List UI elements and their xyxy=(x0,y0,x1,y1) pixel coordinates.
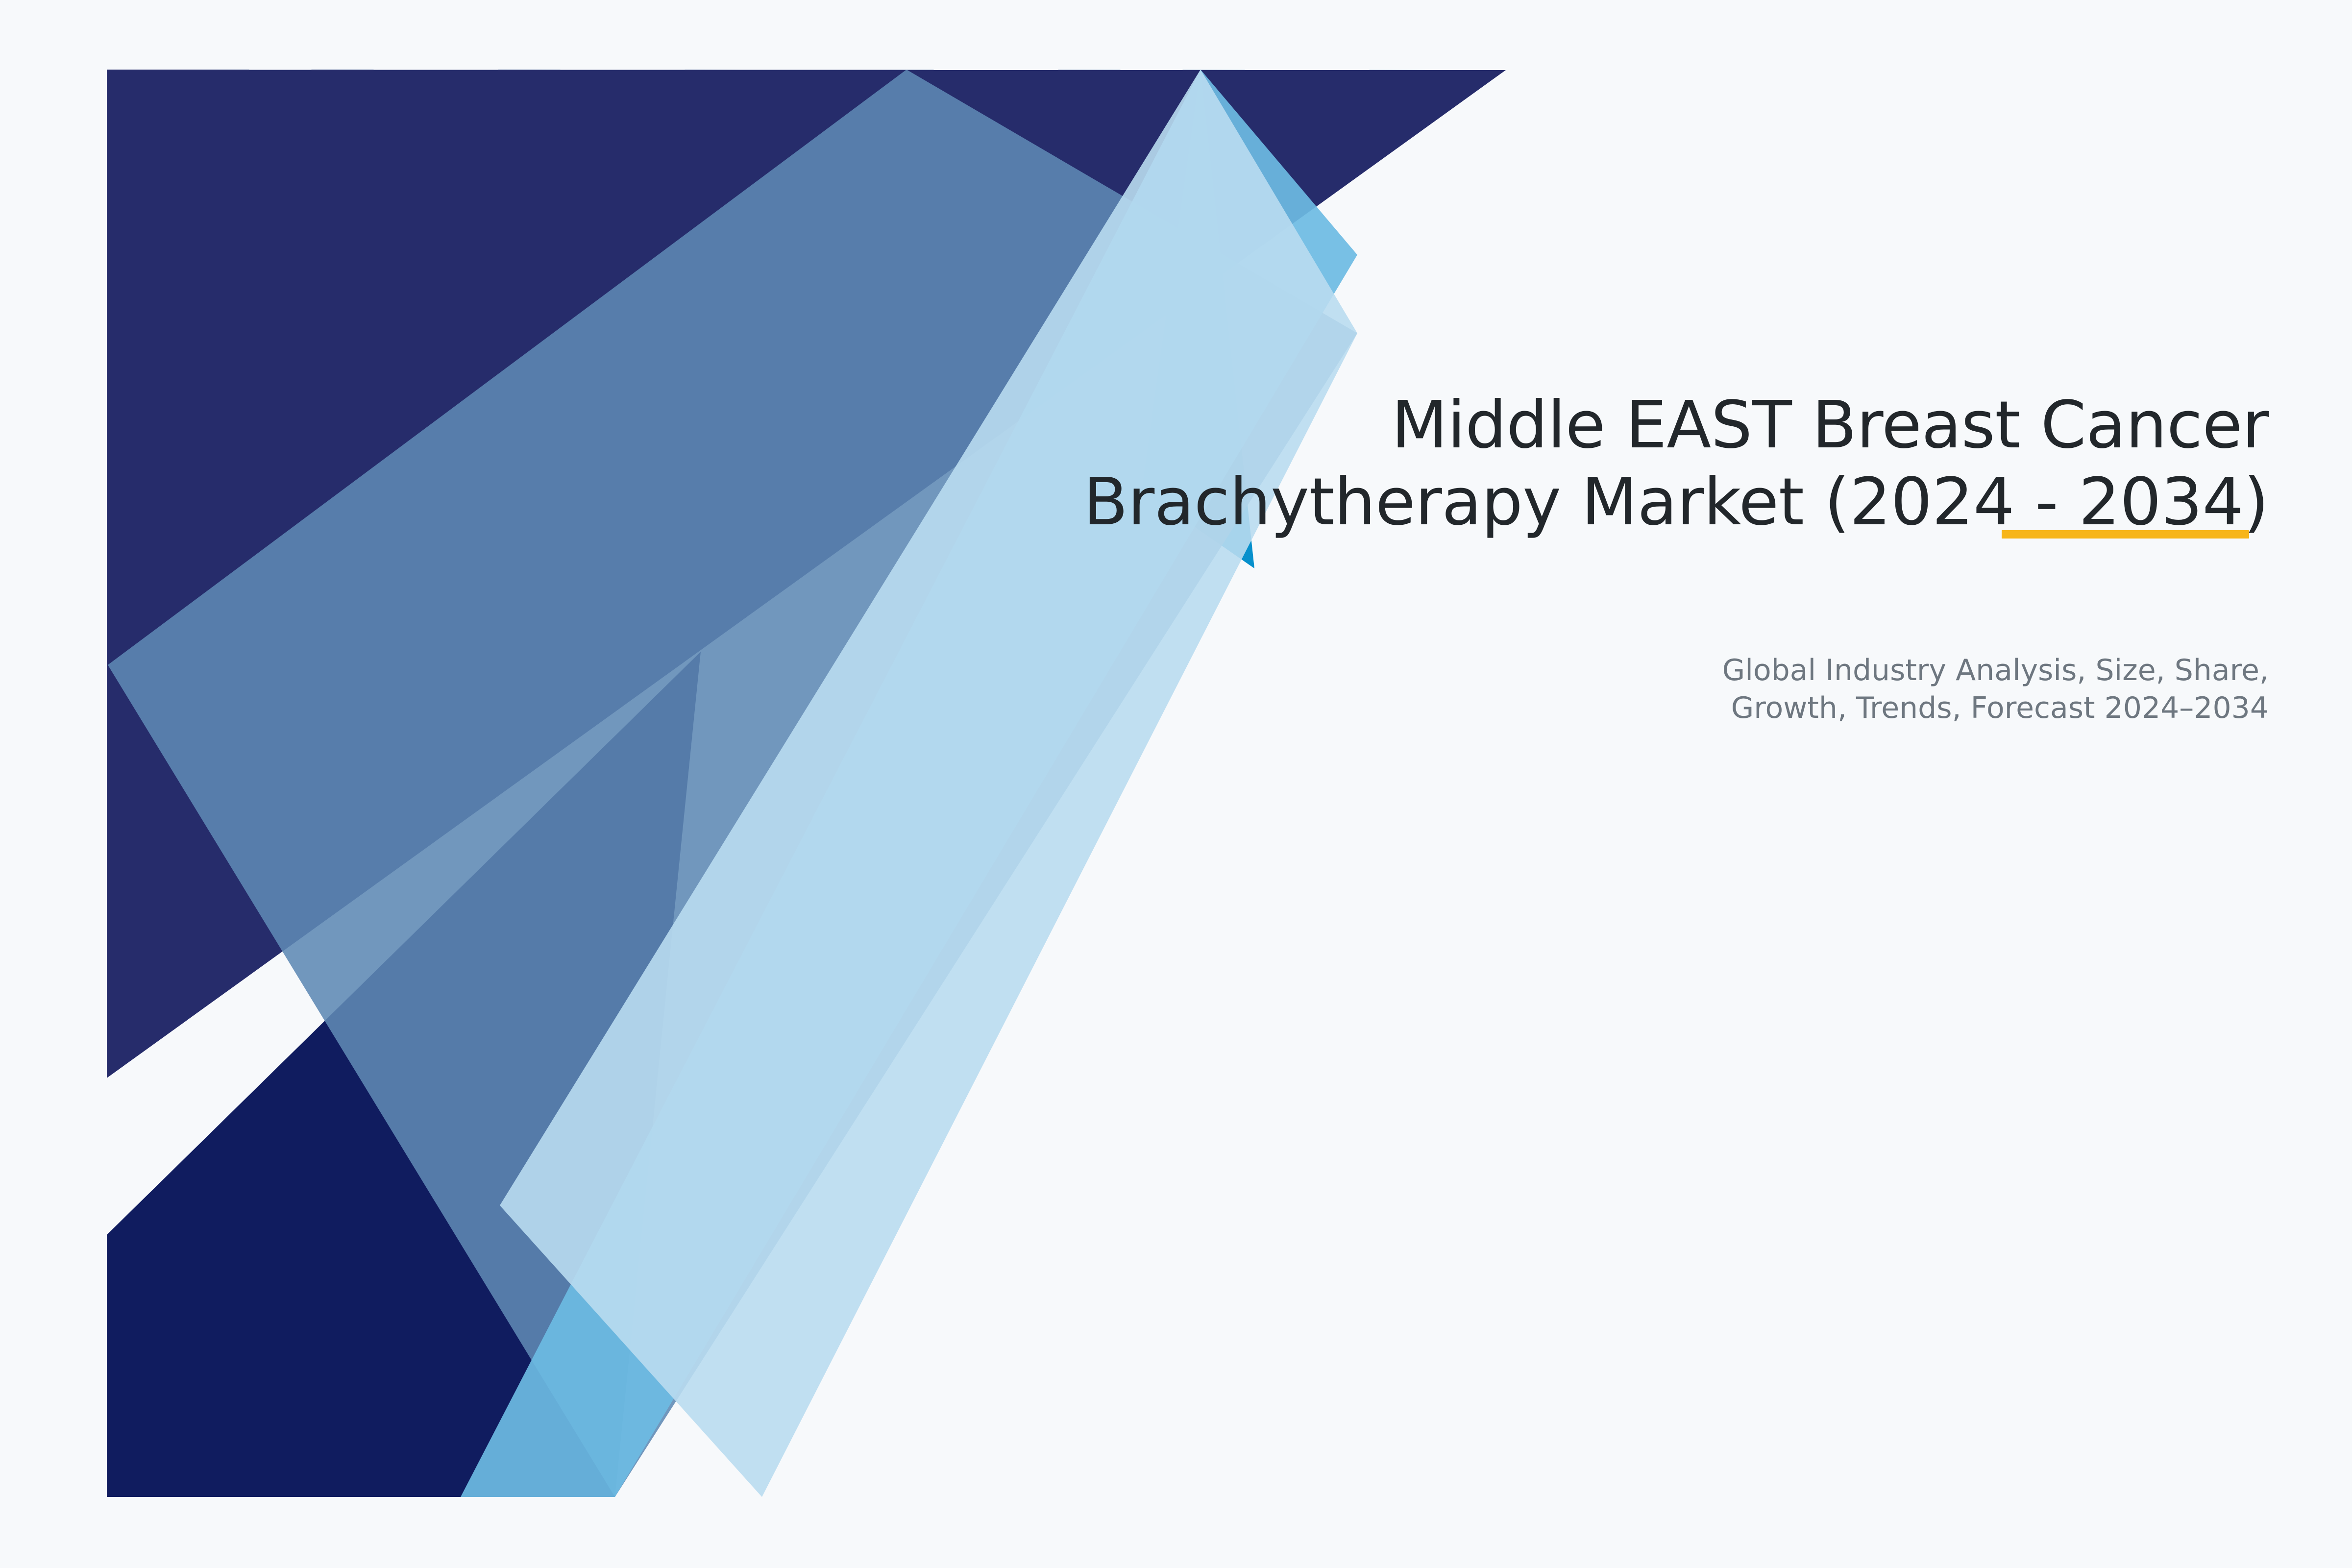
accent-underline xyxy=(2002,530,2249,539)
page-subtitle: Global Industry Analysis, Size, Share, G… xyxy=(1436,652,2269,727)
cover-page: Middle EAST Breast Cancer Brachytherapy … xyxy=(0,0,2352,1568)
title-line-1: Middle EAST Breast Cancer xyxy=(804,387,2269,464)
subtitle-line-2: Growth, Trends, Forecast 2024–2034 xyxy=(1436,689,2269,727)
subtitle-line-1: Global Industry Analysis, Size, Share, xyxy=(1436,652,2269,689)
abstract-geometric-banner xyxy=(0,0,2352,1568)
artwork-shapes xyxy=(107,70,1506,1497)
title-line-2: Brachytherapy Market (2024 - 2034) xyxy=(804,464,2269,541)
page-title: Middle EAST Breast Cancer Brachytherapy … xyxy=(804,387,2269,541)
